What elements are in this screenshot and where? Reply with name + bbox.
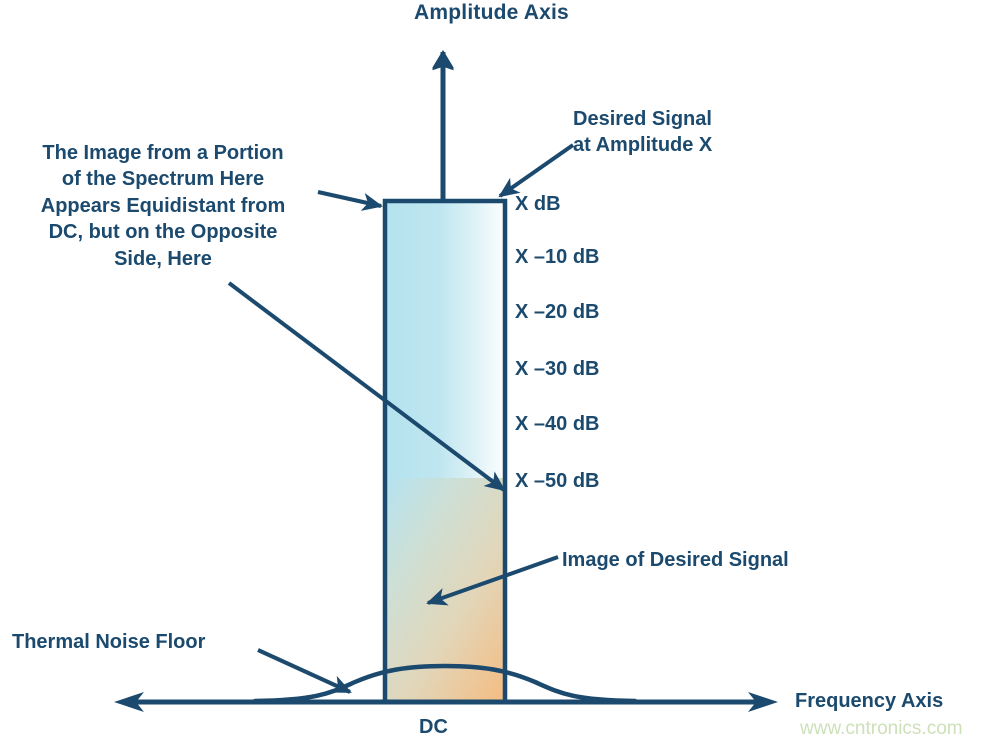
dc-origin-label: DC	[419, 715, 448, 739]
thermal-noise-floor-annotation: Thermal Noise Floor	[12, 630, 205, 654]
desired-signal-annotation: Desired Signal at Amplitude X	[573, 106, 712, 158]
watermark-text: www.cntronics.com	[800, 718, 963, 740]
scale-label-x-minus-20-db: X –20 dB	[515, 300, 599, 324]
frequency-axis-label: Frequency Axis	[795, 689, 943, 713]
scale-label-x-db: X dB	[515, 192, 561, 216]
leader-thermal-noise-floor	[258, 650, 350, 692]
amplitude-axis-label: Amplitude Axis	[0, 0, 983, 26]
leader-thermal-noise-floor-arrow	[258, 650, 350, 692]
scale-label-x-minus-30-db: X –30 dB	[515, 357, 599, 381]
leader-desired-signal-arrow	[500, 145, 573, 196]
leader-image-portion-top	[318, 192, 381, 206]
leader-image-portion-top-arrow	[318, 192, 381, 206]
desired-signal-fill	[383, 199, 507, 478]
leader-desired-signal	[500, 145, 573, 196]
scale-label-x-minus-10-db: X –10 dB	[515, 245, 599, 269]
image-of-desired-signal-annotation: Image of Desired Signal	[562, 548, 789, 572]
scale-label-x-minus-50-db: X –50 dB	[515, 469, 599, 493]
spectrum-diagram: Amplitude Axis Desired Signal at Amplitu…	[0, 0, 983, 745]
scale-label-x-minus-40-db: X –40 dB	[515, 412, 599, 436]
desired-signal-bar	[383, 199, 507, 478]
image-portion-annotation: The Image from a Portion of the Spectrum…	[8, 140, 318, 272]
